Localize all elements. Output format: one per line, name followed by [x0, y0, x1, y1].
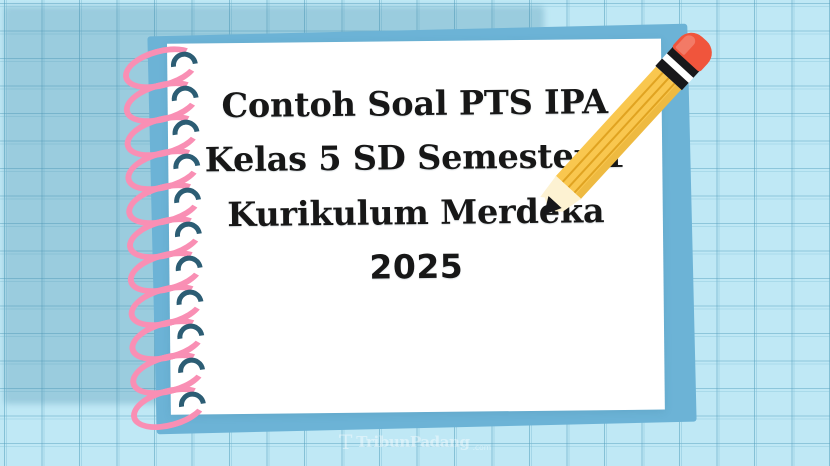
title-block: Contoh Soal PTS IPA Kelas 5 SD Semester …	[167, 39, 665, 415]
poster-canvas: Contoh Soal PTS IPA Kelas 5 SD Semester …	[0, 0, 830, 466]
title-line-1: Contoh Soal PTS IPA	[221, 75, 608, 133]
notepad: Contoh Soal PTS IPA Kelas 5 SD Semester …	[147, 24, 696, 435]
notepad-sheet: Contoh Soal PTS IPA Kelas 5 SD Semester …	[167, 39, 665, 415]
title-line-4-year: 2025	[369, 239, 463, 293]
